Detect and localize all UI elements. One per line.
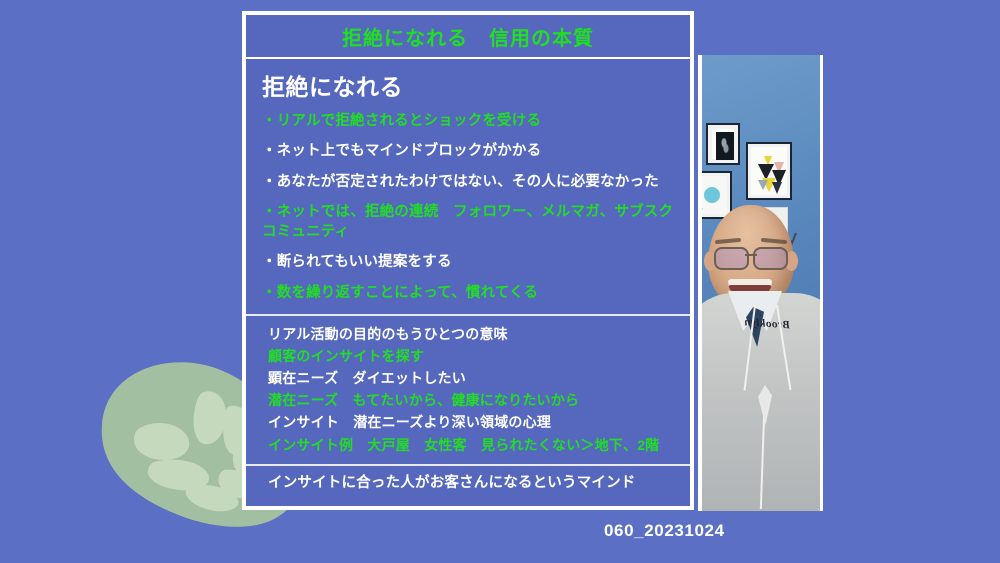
note-line: 顧客のインサイトを探す [268, 345, 690, 367]
bullet-item: ・断られてもいい提案をする [262, 253, 676, 272]
slide-title-band: 拒絶になれる 信用の本質 [246, 15, 690, 59]
webcam-video-frame: Brooklyn [702, 55, 820, 511]
bullet-item: ・リアルで拒絶されるとショックを受ける [262, 112, 676, 131]
slide-footer-line: インサイトに合った人がお客さんになるというマインド [268, 471, 690, 492]
bullet-item: ・数を繰り返すことによって、慣れてくる [262, 284, 676, 303]
eyeglasses-icon [710, 247, 792, 267]
bullet-item: ・ネットでは、拒絶の連続 フォロワー、メルマガ、サブスクコミュニティ [262, 203, 676, 242]
wall-art-geometric-frame [746, 142, 792, 200]
presentation-slide[interactable]: 拒絶になれる 信用の本質 拒絶になれる ・リアルで拒絶されるとショックを受ける … [242, 11, 694, 510]
deck-id-label: 060_20231024 [604, 521, 725, 541]
bullet-item: ・あなたが否定されたわけではない、その人に必要なかった [262, 173, 676, 192]
note-line: 顕在ニーズ ダイエットしたい [268, 367, 690, 389]
footer-block: インサイトに合った人がお客さんになるというマインド [246, 466, 690, 492]
bullet-item: ・ネット上でもマインドブロックがかかる [262, 142, 676, 161]
note-line: インサイト 潜在ニーズより深い領域の心理 [268, 411, 690, 433]
note-line: リアル活動の目的のもうひとつの意味 [268, 323, 690, 345]
wall-art-blue-frame [702, 171, 732, 219]
webcam-video-pane[interactable]: Brooklyn [698, 55, 823, 511]
note-line: 潜在ニーズ もてたいから、健康になりたいから [268, 389, 690, 411]
slide-heading: 拒絶になれる [246, 68, 690, 112]
notes-block: リアル活動の目的のもうひとつの意味 顧客のインサイトを探す 顕在ニーズ ダイエッ… [246, 316, 690, 460]
note-line: インサイト例 大戸屋 女性客 見られたくない＞地下、2階 [268, 434, 690, 456]
slide-title: 拒絶になれる 信用の本質 [342, 22, 594, 51]
wall-art-dark-frame [706, 123, 740, 165]
bullet-list: ・リアルで拒絶されるとショックを受ける ・ネット上でもマインドブロックがかかる … [246, 112, 690, 303]
slide-body: 拒絶になれる ・リアルで拒絶されるとショックを受ける ・ネット上でもマインドブロ… [246, 59, 690, 492]
